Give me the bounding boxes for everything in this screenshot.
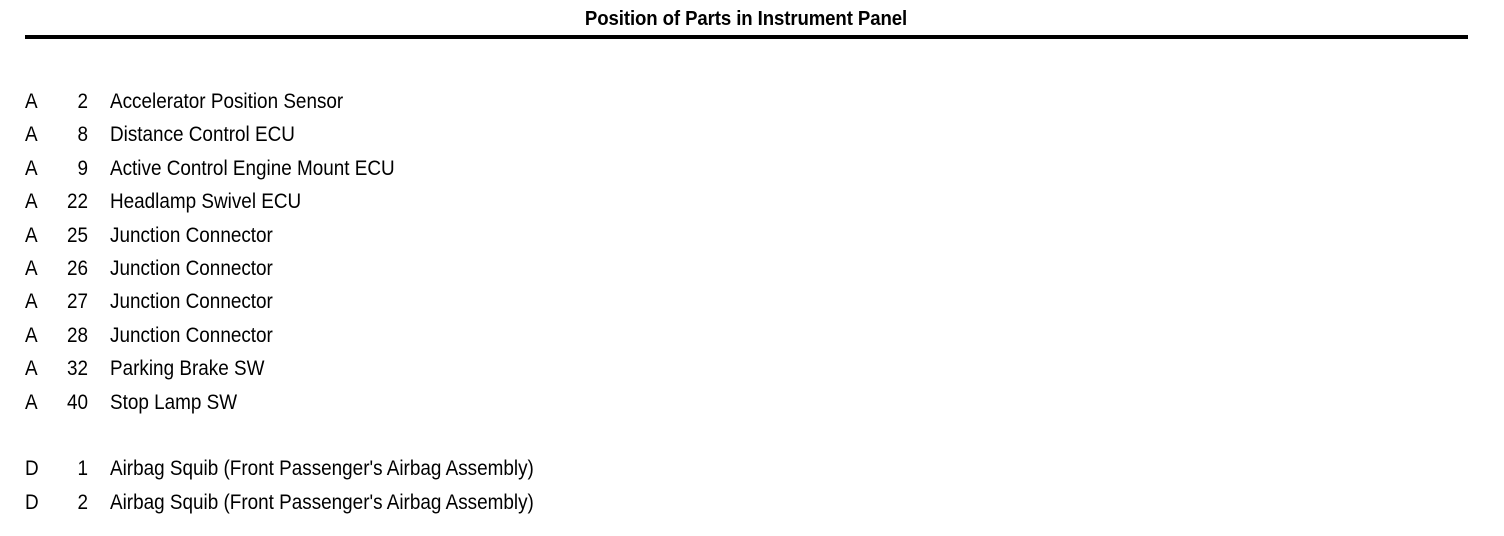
parts-list-row: A22Headlamp Swivel ECU <box>0 188 1504 221</box>
parts-list-spacer <box>0 422 1504 455</box>
parts-list-row: A32Parking Brake SW <box>0 355 1504 388</box>
part-number: 25 <box>47 222 88 250</box>
part-number: 2 <box>47 489 88 517</box>
parts-list-row: A9Active Control Engine Mount ECU <box>0 155 1504 188</box>
part-number: 2 <box>47 88 88 116</box>
part-description: Airbag Squib (Front Passenger's Airbag A… <box>110 489 534 517</box>
part-code: A <box>25 355 38 383</box>
part-code: A <box>25 222 38 250</box>
parts-list-row: A2Accelerator Position Sensor <box>0 88 1504 121</box>
header-divider-rule <box>25 35 1468 39</box>
part-code: A <box>25 188 38 216</box>
parts-list-row: D2Airbag Squib (Front Passenger's Airbag… <box>0 489 1504 522</box>
parts-list: A2Accelerator Position SensorA8Distance … <box>0 88 1504 522</box>
part-number: 9 <box>47 155 88 183</box>
part-code: A <box>25 389 38 417</box>
part-code: A <box>25 88 38 116</box>
part-description: Accelerator Position Sensor <box>110 88 343 116</box>
parts-list-row: A26Junction Connector <box>0 255 1504 288</box>
part-code: A <box>25 322 38 350</box>
part-code: A <box>25 288 38 316</box>
parts-list-row: A40Stop Lamp SW <box>0 389 1504 422</box>
part-number: 1 <box>47 455 88 483</box>
part-description: Airbag Squib (Front Passenger's Airbag A… <box>110 455 534 483</box>
part-description: Parking Brake SW <box>110 355 264 383</box>
part-description: Distance Control ECU <box>110 121 295 149</box>
part-description: Junction Connector <box>110 255 273 283</box>
part-description: Active Control Engine Mount ECU <box>110 155 395 183</box>
part-number: 28 <box>47 322 88 350</box>
page-title: Position of Parts in Instrument Panel <box>52 7 1440 31</box>
page-header: Position of Parts in Instrument Panel <box>0 0 1504 40</box>
parts-list-row: A25Junction Connector <box>0 222 1504 255</box>
part-number: 40 <box>47 389 88 417</box>
part-code: A <box>25 155 38 183</box>
part-number: 27 <box>47 288 88 316</box>
part-number: 32 <box>47 355 88 383</box>
parts-position-page: { "header": { "title": "Position of Part… <box>0 0 1504 536</box>
part-description: Junction Connector <box>110 288 273 316</box>
parts-list-row: A28Junction Connector <box>0 322 1504 355</box>
part-description: Junction Connector <box>110 222 273 250</box>
part-number: 22 <box>47 188 88 216</box>
part-description: Headlamp Swivel ECU <box>110 188 301 216</box>
parts-list-row: D1Airbag Squib (Front Passenger's Airbag… <box>0 455 1504 488</box>
part-number: 8 <box>47 121 88 149</box>
part-description: Stop Lamp SW <box>110 389 237 417</box>
part-code: D <box>25 455 39 483</box>
part-code: A <box>25 121 38 149</box>
part-number: 26 <box>47 255 88 283</box>
part-code: D <box>25 489 39 517</box>
part-code: A <box>25 255 38 283</box>
parts-list-row: A27Junction Connector <box>0 288 1504 321</box>
parts-list-row: A8Distance Control ECU <box>0 121 1504 154</box>
part-description: Junction Connector <box>110 322 273 350</box>
